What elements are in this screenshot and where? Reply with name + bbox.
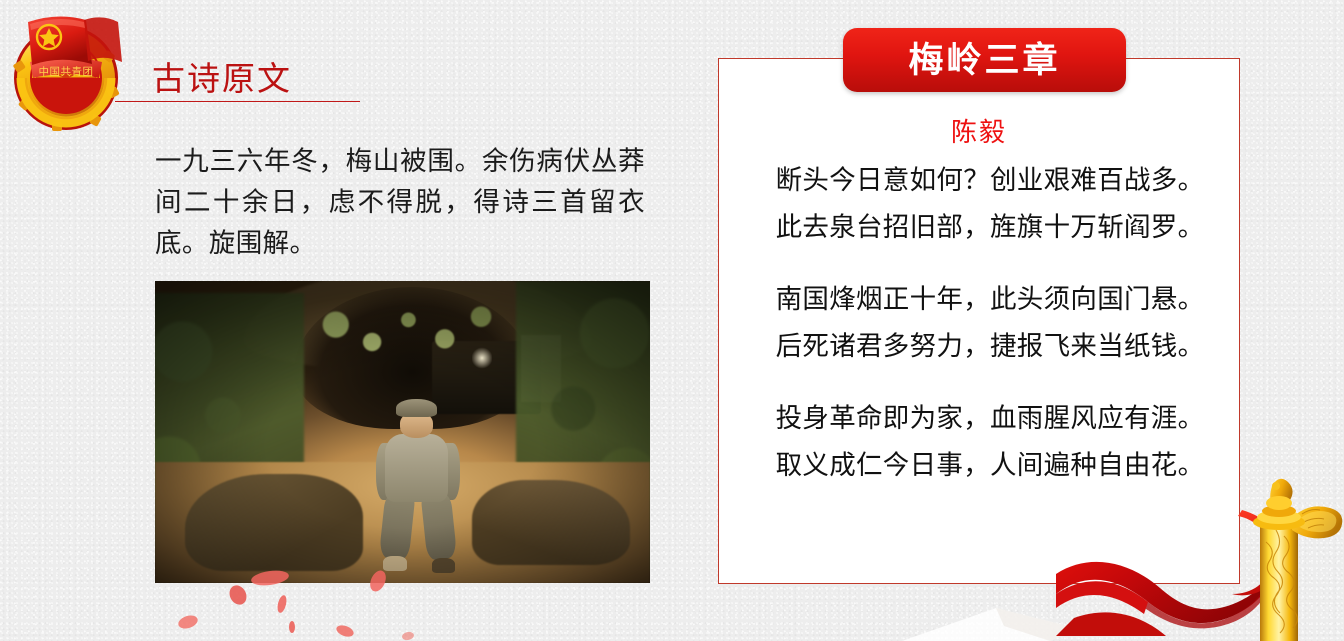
section-heading: 古诗原文 [115, 58, 415, 102]
poem-stanza: 南国烽烟正十年，此头须向国门悬。 后死诸君多努力，捷报飞来当纸钱。 [740, 276, 1240, 370]
poem-title-badge: 梅岭三章 [843, 28, 1126, 92]
diorama-photo [155, 281, 650, 583]
poem-body: 断头今日意如何？创业艰难百战多。 此去泉台招旧部，旌旗十万斩阎罗。 南国烽烟正十… [740, 157, 1240, 489]
poem-line: 投身革命即为家，血雨腥风应有涯。 [740, 395, 1240, 442]
poem-line: 取义成仁今日事，人间遍种自由花。 [740, 442, 1240, 489]
falling-petals-decoration [150, 565, 620, 641]
title-underline-rule [115, 101, 360, 102]
poem-stanza: 断头今日意如何？创业艰难百战多。 此去泉台招旧部，旌旗十万斩阎罗。 [740, 157, 1240, 251]
poem-author: 陈毅 [718, 112, 1240, 149]
emblem-banner-text: 中国共青团 [39, 65, 94, 78]
golden-huabiao-column-decoration [1232, 470, 1344, 641]
poem-line: 断头今日意如何？创业艰难百战多。 [740, 157, 1240, 204]
poem-stanza: 投身革命即为家，血雨腥风应有涯。 取义成仁今日事，人间遍种自由花。 [740, 395, 1240, 489]
page-title: 古诗原文 [115, 58, 415, 99]
poem-title-text: 梅岭三章 [908, 43, 1060, 78]
poem-line: 此去泉台招旧部，旌旗十万斩阎罗。 [740, 204, 1240, 251]
slide-root: 中国共青团 古诗原文 一九三六年冬，梅山被围。余伤病伏丛莽间二十余日，虑不得脱，… [0, 0, 1344, 641]
photo-vignette [155, 281, 650, 583]
poem-line: 南国烽烟正十年，此头须向国门悬。 [740, 276, 1240, 323]
preface-paragraph: 一九三六年冬，梅山被围。余伤病伏丛莽间二十余日，虑不得脱，得诗三首留衣底。旋围解… [155, 141, 645, 264]
poem-line: 后死诸君多努力，捷报飞来当纸钱。 [740, 323, 1240, 370]
